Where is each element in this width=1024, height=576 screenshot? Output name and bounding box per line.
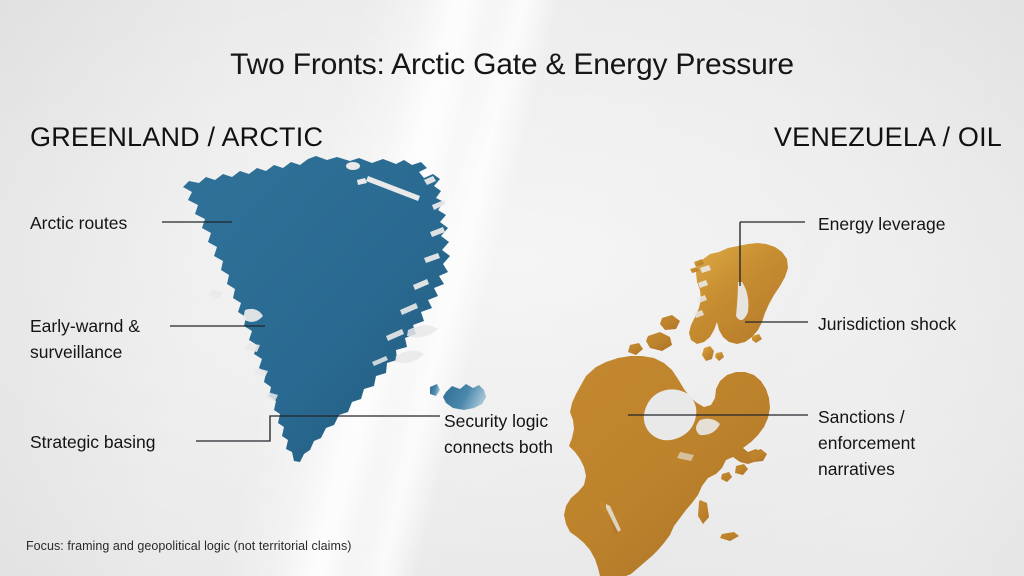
leader-line-layer <box>0 0 1024 576</box>
annotation-jurisdiction-shock: Jurisdiction shock <box>818 311 956 337</box>
section-heading-greenland: GREENLAND / ARCTIC <box>30 122 323 153</box>
annotation-security-logic: Security logic connects both <box>444 408 553 460</box>
annotation-energy-leverage: Energy leverage <box>818 211 945 237</box>
section-heading-venezuela: VENEZUELA / OIL <box>774 122 1002 153</box>
page-title: Two Fronts: Arctic Gate & Energy Pressur… <box>0 48 1024 82</box>
annotation-arctic-routes: Arctic routes <box>30 210 127 236</box>
leader-strategic-basing <box>196 416 440 441</box>
footnote: Focus: framing and geopolitical logic (n… <box>26 539 351 553</box>
slide-canvas: Two Fronts: Arctic Gate & Energy Pressur… <box>0 0 1024 576</box>
annotation-sanctions-enforcement: Sanctions / enforcement narratives <box>818 404 915 482</box>
annotation-strategic-basing: Strategic basing <box>30 429 156 455</box>
annotation-early-warning: Early-warnd & surveillance <box>30 313 140 365</box>
